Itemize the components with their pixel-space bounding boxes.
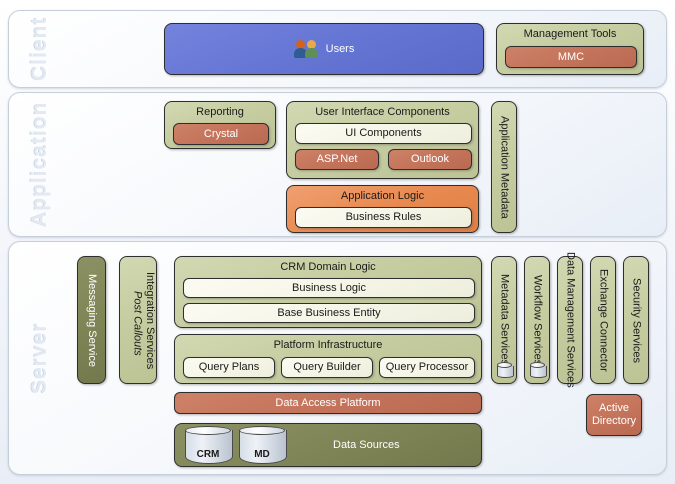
application-logic-group[interactable]: Application Logic Business Rules (286, 185, 479, 233)
users-content: Users (294, 40, 355, 58)
query-builder-label: Query Builder (293, 361, 360, 374)
management-tools-title: Management Tools (497, 28, 643, 41)
platform-infrastructure-item-query-builder[interactable]: Query Builder (281, 357, 373, 378)
active-directory-box[interactable]: Active Directory (586, 394, 642, 436)
messaging-service-box[interactable]: Messaging Service (77, 256, 106, 384)
integration-services-box[interactable]: Integration Services Post Callouts (119, 256, 157, 384)
data-sources-content: CRM MD Data Sources (175, 426, 481, 464)
active-directory-label: Active Directory (587, 402, 641, 427)
platform-infrastructure-item-query-plans[interactable]: Query Plans (183, 357, 275, 378)
side-service-data-management-services[interactable]: Data Management Services (557, 256, 583, 384)
security-services-label: Security Services (630, 278, 643, 363)
platform-infrastructure-item-query-processor[interactable]: Query Processor (379, 357, 475, 378)
platform-infrastructure-title: Platform Infrastructure (175, 339, 481, 352)
database-icon-crm: CRM (185, 426, 231, 464)
integration-services-sub-label: Post Callouts (131, 291, 144, 356)
application-metadata-label: Application Metadata (498, 116, 511, 219)
mmc-label: MMC (558, 51, 584, 64)
data-management-services-label: Data Management Services (564, 252, 577, 388)
layer-label-server: Server (17, 242, 63, 474)
database-icon-md: MD (239, 426, 285, 464)
workflow-services-label: Workflow Services (531, 275, 544, 365)
layer-application: Application Reporting Crystal User Inter… (8, 92, 667, 237)
business-rules-label: Business Rules (346, 211, 422, 224)
crm-domain-logic-item-base-business-entity[interactable]: Base Business Entity (183, 303, 475, 323)
reporting-item-crystal[interactable]: Crystal (173, 123, 269, 145)
metadata-services-label: Metadata Services (498, 274, 511, 365)
management-tools-item-mmc[interactable]: MMC (505, 46, 637, 68)
side-service-security-services[interactable]: Security Services (623, 256, 649, 384)
data-access-platform-label: Data Access Platform (275, 397, 380, 410)
layer-label-client: Client (17, 11, 63, 87)
layer-client: Client Users Management Tools MMC (8, 10, 667, 88)
ui-components-group[interactable]: User Interface Components UI Components … (286, 101, 479, 179)
ui-components-item-outlook[interactable]: Outlook (388, 149, 472, 170)
ui-components-item-aspnet[interactable]: ASP.Net (295, 149, 379, 170)
application-metadata-box[interactable]: Application Metadata (491, 101, 517, 233)
crystal-label: Crystal (204, 128, 238, 141)
crm-domain-logic-item-business-logic[interactable]: Business Logic (183, 278, 475, 298)
database-icon-metadata (497, 362, 512, 378)
database-icon-workflow (530, 362, 545, 378)
data-access-platform-box[interactable]: Data Access Platform (174, 392, 482, 414)
crm-domain-logic-group[interactable]: CRM Domain Logic Business Logic Base Bus… (174, 256, 482, 328)
application-logic-item-business-rules[interactable]: Business Rules (295, 207, 472, 228)
reporting-group[interactable]: Reporting Crystal (164, 101, 276, 149)
layer-label-application: Application (17, 93, 63, 236)
layer-server: Server Messaging Service Integration Ser… (8, 241, 667, 475)
users-label: Users (326, 43, 355, 56)
side-service-exchange-connector[interactable]: Exchange Connector (590, 256, 616, 384)
db-crm-label: CRM (185, 449, 231, 461)
side-service-metadata-services[interactable]: Metadata Services (491, 256, 517, 384)
base-business-entity-label: Base Business Entity (277, 307, 380, 320)
business-logic-label: Business Logic (292, 282, 366, 295)
query-processor-label: Query Processor (386, 361, 469, 374)
reporting-title: Reporting (165, 106, 275, 119)
users-icon (294, 40, 320, 58)
crm-domain-logic-title: CRM Domain Logic (175, 261, 481, 274)
client-users-box[interactable]: Users (164, 23, 484, 75)
ui-components-main[interactable]: UI Components (295, 123, 472, 144)
aspnet-label: ASP.Net (317, 153, 358, 166)
side-service-workflow-services[interactable]: Workflow Services (524, 256, 550, 384)
messaging-service-label: Messaging Service (85, 274, 98, 367)
exchange-connector-label: Exchange Connector (597, 269, 610, 372)
application-logic-title: Application Logic (287, 190, 478, 203)
ui-components-title: User Interface Components (287, 106, 478, 119)
query-plans-label: Query Plans (199, 361, 260, 374)
platform-infrastructure-group[interactable]: Platform Infrastructure Query Plans Quer… (174, 334, 482, 384)
data-sources-box[interactable]: CRM MD Data Sources (174, 423, 482, 467)
data-sources-label: Data Sources (333, 439, 400, 452)
integration-services-label: Integration Services (143, 272, 156, 369)
outlook-label: Outlook (411, 153, 449, 166)
architecture-diagram: Client Users Management Tools MMC Applic… (0, 0, 675, 484)
management-tools-group[interactable]: Management Tools MMC (496, 23, 644, 75)
db-md-label: MD (239, 449, 285, 461)
ui-components-main-label: UI Components (345, 127, 421, 140)
